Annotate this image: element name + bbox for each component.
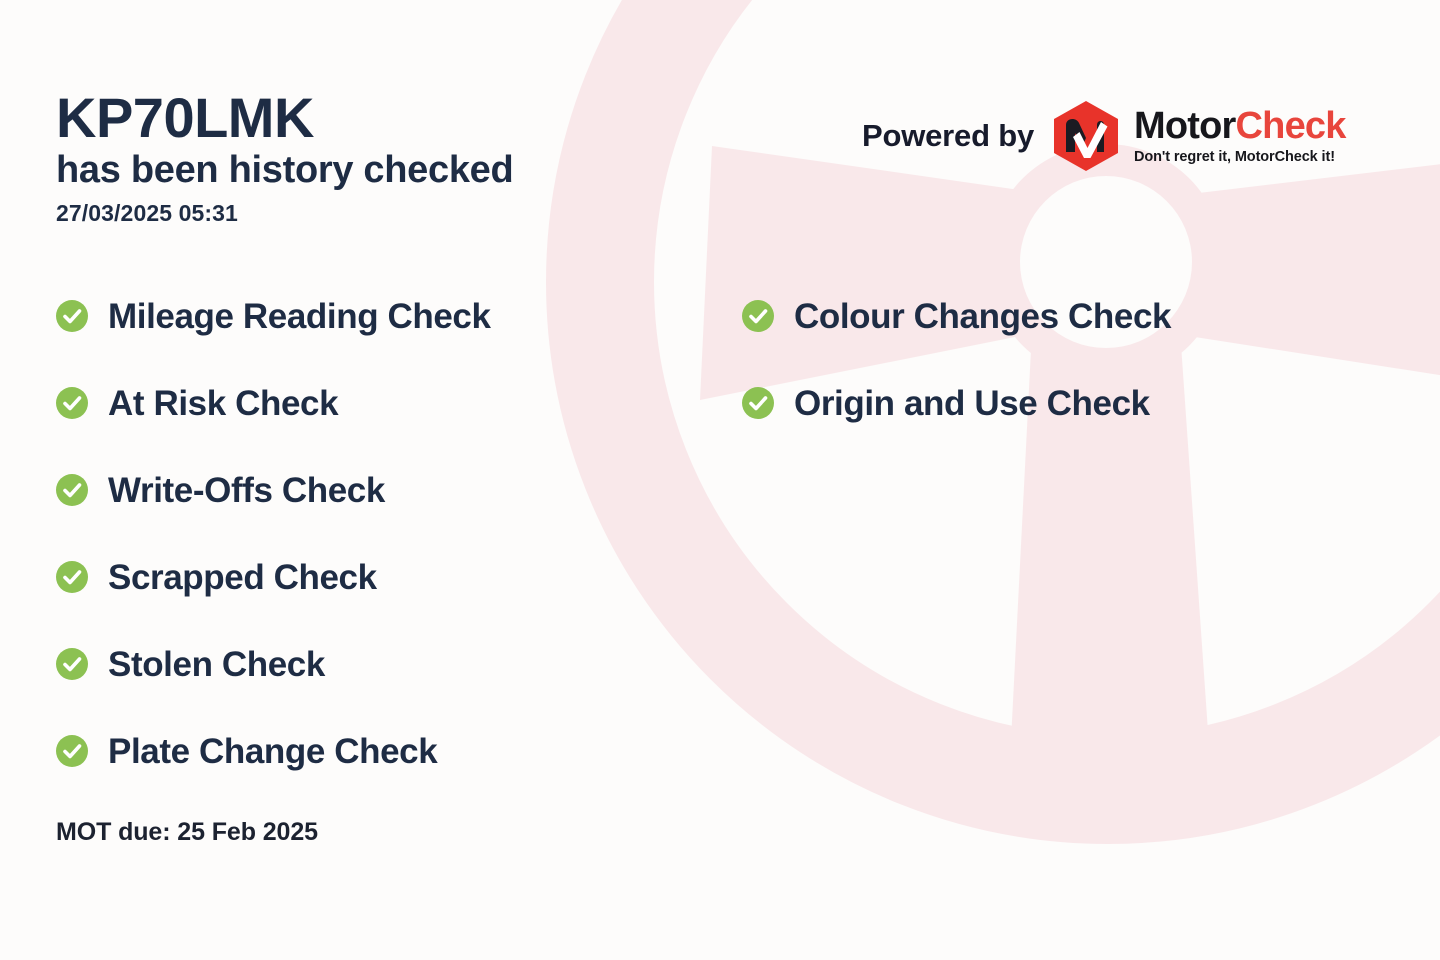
check-circle-icon xyxy=(56,300,88,332)
check-circle-icon xyxy=(56,735,88,767)
list-item: Plate Change Check xyxy=(56,729,696,773)
checks-left-column: Mileage Reading Check At Risk Check Writ… xyxy=(56,294,696,816)
check-circle-icon xyxy=(56,387,88,419)
list-item: Stolen Check xyxy=(56,642,696,686)
wordmark-check: Check xyxy=(1236,105,1346,147)
powered-by-label: Powered by xyxy=(862,118,1034,154)
motorcheck-logo[interactable]: MotorCheck Don't regret it, MotorCheck i… xyxy=(1052,100,1346,172)
check-label: Colour Changes Check xyxy=(794,299,1171,334)
list-item: Origin and Use Check xyxy=(742,381,1382,425)
page-title: KP70LMK xyxy=(56,88,513,148)
check-label: Stolen Check xyxy=(108,647,325,682)
list-item: Scrapped Check xyxy=(56,555,696,599)
check-label: Scrapped Check xyxy=(108,560,377,595)
checks-right-column: Colour Changes Check Origin and Use Chec… xyxy=(742,294,1382,468)
motorcheck-wordmark: MotorCheck Don't regret it, MotorCheck i… xyxy=(1134,107,1346,165)
check-label: At Risk Check xyxy=(108,386,338,421)
history-check-card: KP70LMK has been history checked 27/03/2… xyxy=(0,0,1440,960)
wordmark-motor: Motor xyxy=(1134,105,1236,147)
check-label: Plate Change Check xyxy=(108,734,437,769)
check-circle-icon xyxy=(56,561,88,593)
check-circle-icon xyxy=(742,387,774,419)
list-item: Colour Changes Check xyxy=(742,294,1382,338)
check-label: Origin and Use Check xyxy=(794,386,1150,421)
check-circle-icon xyxy=(56,648,88,680)
motorcheck-hexagon-icon xyxy=(1052,100,1120,172)
mot-due-text: MOT due: 25 Feb 2025 xyxy=(56,818,318,847)
header-block: KP70LMK has been history checked 27/03/2… xyxy=(56,88,513,227)
list-item: At Risk Check xyxy=(56,381,696,425)
check-timestamp: 27/03/2025 05:31 xyxy=(56,200,513,227)
check-label: Write-Offs Check xyxy=(108,473,385,508)
list-item: Write-Offs Check xyxy=(56,468,696,512)
check-circle-icon xyxy=(742,300,774,332)
page-subtitle: has been history checked xyxy=(56,148,513,193)
list-item: Mileage Reading Check xyxy=(56,294,696,338)
check-circle-icon xyxy=(56,474,88,506)
brand-tagline: Don't regret it, MotorCheck it! xyxy=(1134,149,1346,165)
powered-by-block: Powered by MotorCheck Don't regret it, M… xyxy=(862,100,1346,172)
check-label: Mileage Reading Check xyxy=(108,299,491,334)
